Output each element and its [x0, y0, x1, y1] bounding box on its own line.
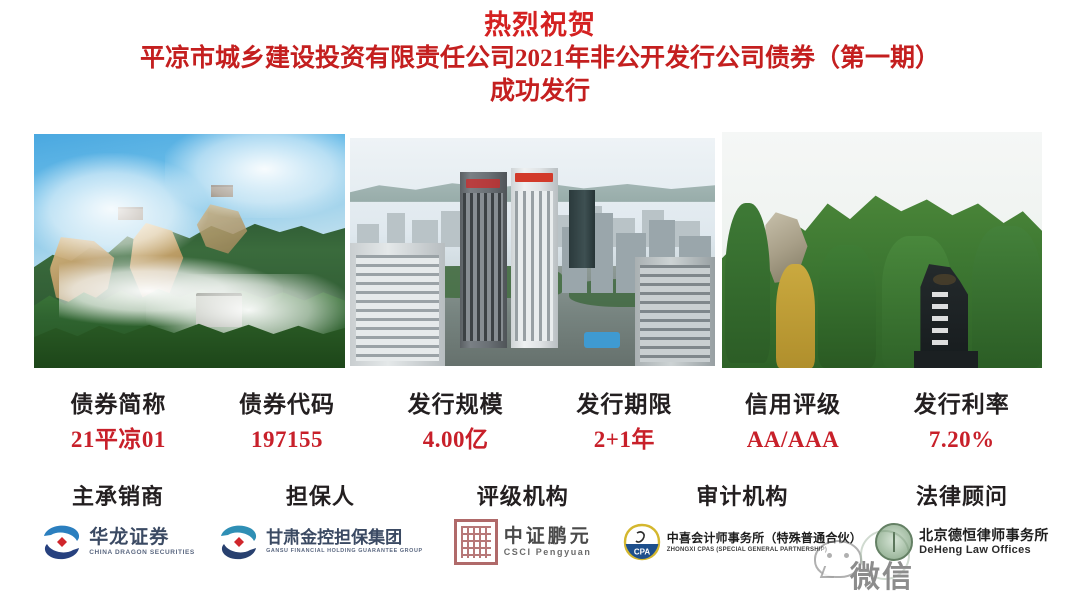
partner-row: 主承销商 华龙证券 CHINA DRAGON SECURITIES 担保人: [18, 482, 1062, 588]
partner-role-label: 担保人: [286, 482, 355, 512]
wave-swoosh-icon: [218, 523, 260, 561]
photo-strip: [0, 0, 1080, 380]
bond-info-cell-code: 债券代码 197155: [203, 388, 372, 488]
zhongxi-logo-text: 中喜会计师事务所（特殊普通合伙） ZHONGXI CPAS (SPECIAL G…: [667, 532, 862, 553]
deheng-logo-text: 北京德恒律师事务所 DeHeng Law Offices: [919, 528, 1049, 556]
partner-rating-agency: 评级机构 中证鹏元 CSCI Pengyuan: [423, 482, 623, 588]
partner-role-label: 法律顾问: [916, 482, 1008, 512]
misty-mountain-photo: [34, 134, 345, 368]
partner-logo-en: CHINA DRAGON SECURITIES: [89, 550, 195, 557]
partner-logo-cn: 甘肃金控担保集团: [266, 529, 423, 546]
partner-logo-en: CSCI Pengyuan: [504, 548, 592, 557]
partner-auditor: 审计机构 CPA 中喜会计师事务所（特殊普通合伙） ZHONGXI CPAS (…: [623, 482, 862, 588]
partner-guarantor: 担保人 甘肃金控担保集团 GANSU FINANCIAL HOLDING GUA…: [218, 482, 423, 588]
bond-info-cell-coupon: 发行利率 7.20%: [877, 388, 1046, 488]
gansu-guarantee-logo: 甘肃金控担保集团 GANSU FINANCIAL HOLDING GUARANT…: [218, 519, 423, 565]
partner-logo-cn: 中喜会计师事务所（特殊普通合伙）: [667, 532, 862, 544]
partner-logo-cn: 中证鹏元: [504, 527, 592, 546]
bond-info-value: 7.20%: [877, 422, 1046, 458]
partner-role-label: 主承销商: [72, 482, 164, 512]
bond-info-label: 债券简称: [34, 388, 203, 422]
partner-logo-cn: 华龙证券: [89, 528, 195, 547]
bond-info-cell-term: 发行期限 2+1年: [540, 388, 709, 488]
bond-info-value: 4.00亿: [371, 422, 540, 458]
bond-info-value: 2+1年: [540, 422, 709, 458]
cpa-badge-icon: CPA: [623, 523, 661, 561]
svg-text:CPA: CPA: [634, 548, 651, 557]
bond-info-value: 21平凉01: [34, 422, 203, 458]
partner-lead-underwriter: 主承销商 华龙证券 CHINA DRAGON SECURITIES: [18, 482, 218, 588]
bond-info-table: 债券简称 21平凉01 债券代码 197155 发行规模 4.00亿 发行期限 …: [34, 388, 1046, 488]
partner-logo-en: GANSU FINANCIAL HOLDING GUARANTEE GROUP: [266, 549, 423, 554]
partner-role-label: 审计机构: [696, 482, 788, 512]
deheng-law-logo: 北京德恒律师事务所 DeHeng Law Offices: [875, 519, 1049, 565]
gansu-logo-text: 甘肃金控担保集团 GANSU FINANCIAL HOLDING GUARANT…: [266, 529, 423, 554]
bond-info-cell-rating: 信用评级 AA/AAA: [709, 388, 878, 488]
partner-logo-cn: 北京德恒律师事务所: [919, 528, 1049, 542]
deheng-emblem-icon: [875, 523, 913, 561]
cityscape-photo: [350, 138, 715, 366]
hualong-logo-text: 华龙证券 CHINA DRAGON SECURITIES: [89, 528, 195, 557]
partner-logo-en: ZHONGXI CPAS (SPECIAL GENERAL PARTNERSHI…: [667, 547, 862, 553]
hualong-securities-logo: 华龙证券 CHINA DRAGON SECURITIES: [41, 519, 195, 565]
partner-role-label: 评级机构: [477, 482, 569, 512]
pengyuan-logo-text: 中证鹏元 CSCI Pengyuan: [504, 527, 592, 557]
bond-info-cell-size: 发行规模 4.00亿: [371, 388, 540, 488]
seal-square-icon: [454, 519, 498, 565]
bond-info-label: 发行利率: [877, 388, 1046, 422]
zhongxi-cpas-logo: CPA 中喜会计师事务所（特殊普通合伙） ZHONGXI CPAS (SPECI…: [623, 519, 862, 565]
csci-pengyuan-logo: 中证鹏元 CSCI Pengyuan: [454, 519, 592, 565]
bond-issuance-poster: 热烈祝贺 平凉市城乡建设投资有限责任公司2021年非公开发行公司债券（第一期） …: [0, 0, 1080, 608]
bond-info-label: 发行规模: [371, 388, 540, 422]
bond-info-label: 债券代码: [203, 388, 372, 422]
bond-info-value: 197155: [203, 422, 372, 458]
partner-legal-counsel: 法律顾问 北京德恒律师事务所 DeHeng Law Offices: [862, 482, 1062, 588]
bond-info-cell-abbreviation: 债券简称 21平凉01: [34, 388, 203, 488]
wave-swoosh-icon: [41, 523, 83, 561]
partner-logo-en: DeHeng Law Offices: [919, 545, 1049, 556]
bond-info-label: 发行期限: [540, 388, 709, 422]
kongtong-monument-photo: [722, 132, 1042, 368]
bond-info-value: AA/AAA: [709, 422, 878, 458]
bond-info-label: 信用评级: [709, 388, 878, 422]
